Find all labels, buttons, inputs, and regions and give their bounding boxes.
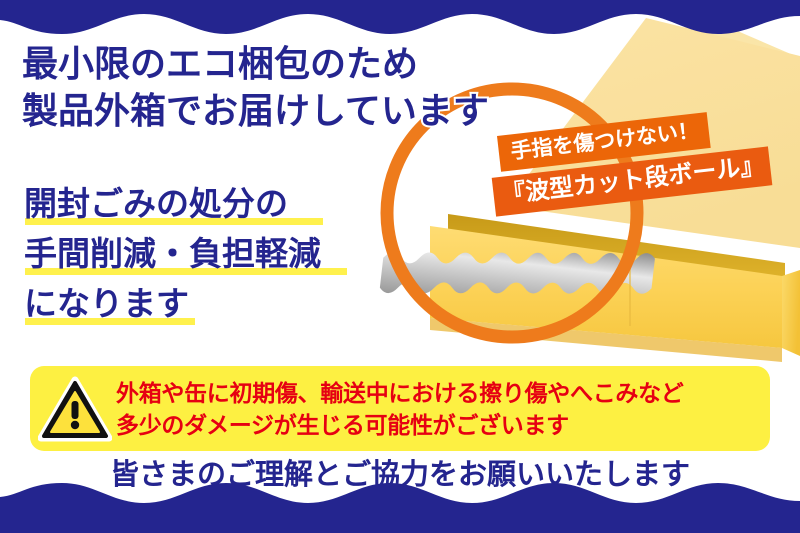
warning-panel: 外箱や缶に初期傷、輸送中における擦り傷やへこみなど 多少のダメージが生じる可能性… [30,366,770,451]
headline-block: 最小限のエコ梱包のため 製品外箱でお届けしています [22,40,582,134]
subhead-row-3: になります [24,284,321,324]
subhead-row-2: 手間削減・負担軽減 [24,234,321,274]
subhead-line-1: 開封ごみの処分の [24,184,288,224]
subhead-line-2: 手間削減・負担軽減 [24,234,321,274]
warning-line-2: 多少のダメージが生じる可能性がございます [116,409,758,441]
subhead-row-1: 開封ごみの処分の [24,184,321,224]
subhead-line-3: になります [24,284,189,324]
promo-banner-stage: 最小限のエコ梱包のため 製品外箱でお届けしています 開封ごみの処分の 手間削減・… [0,0,800,533]
headline-line-2: 製品外箱でお届けしています [22,87,582,134]
headline-line-1: 最小限のエコ梱包のため [22,40,582,87]
closing-line: 皆さまのご理解とご協力をお願いいたします [0,455,800,495]
warning-text-block: 外箱や缶に初期傷、輸送中における擦り傷やへこみなど 多少のダメージが生じる可能性… [116,377,770,441]
subhead-block: 開封ごみの処分の 手間削減・負担軽減 になります [24,184,321,334]
warning-line-1: 外箱や缶に初期傷、輸送中における擦り傷やへこみなど [116,377,758,409]
warning-triangle-icon [38,376,112,442]
